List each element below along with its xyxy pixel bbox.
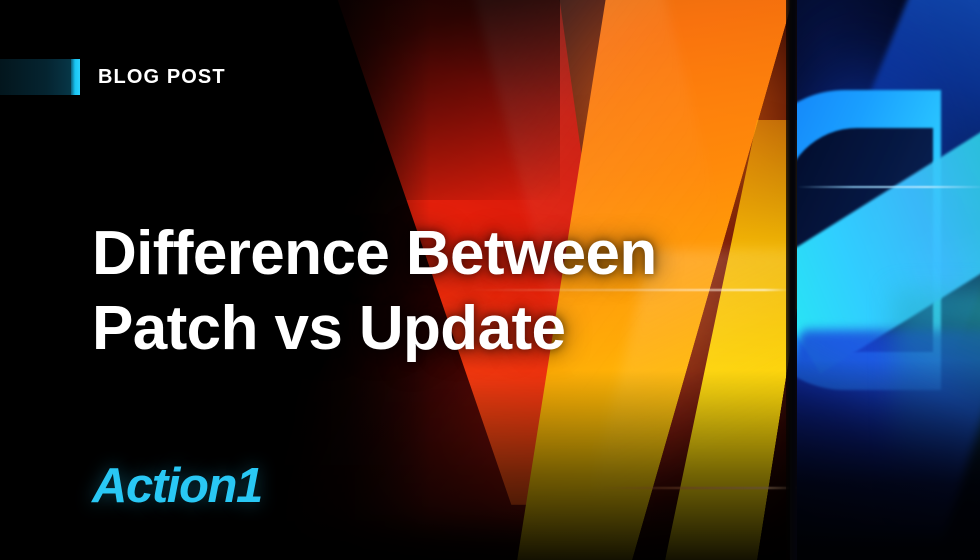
banner-content: BLOG POST Difference Between Patch vs Up… xyxy=(0,0,980,560)
blog-post-badge: BLOG POST xyxy=(0,59,226,95)
badge-label: BLOG POST xyxy=(98,66,226,89)
blog-post-banner: BLOG POST Difference Between Patch vs Up… xyxy=(0,0,980,560)
action1-logo[interactable]: Action1 xyxy=(92,458,262,514)
page-title-line-2: Patch vs Update xyxy=(92,291,657,366)
badge-accent-bar xyxy=(0,59,80,95)
page-title-line-1: Difference Between xyxy=(92,216,657,291)
page-title: Difference Between Patch vs Update xyxy=(92,216,657,366)
